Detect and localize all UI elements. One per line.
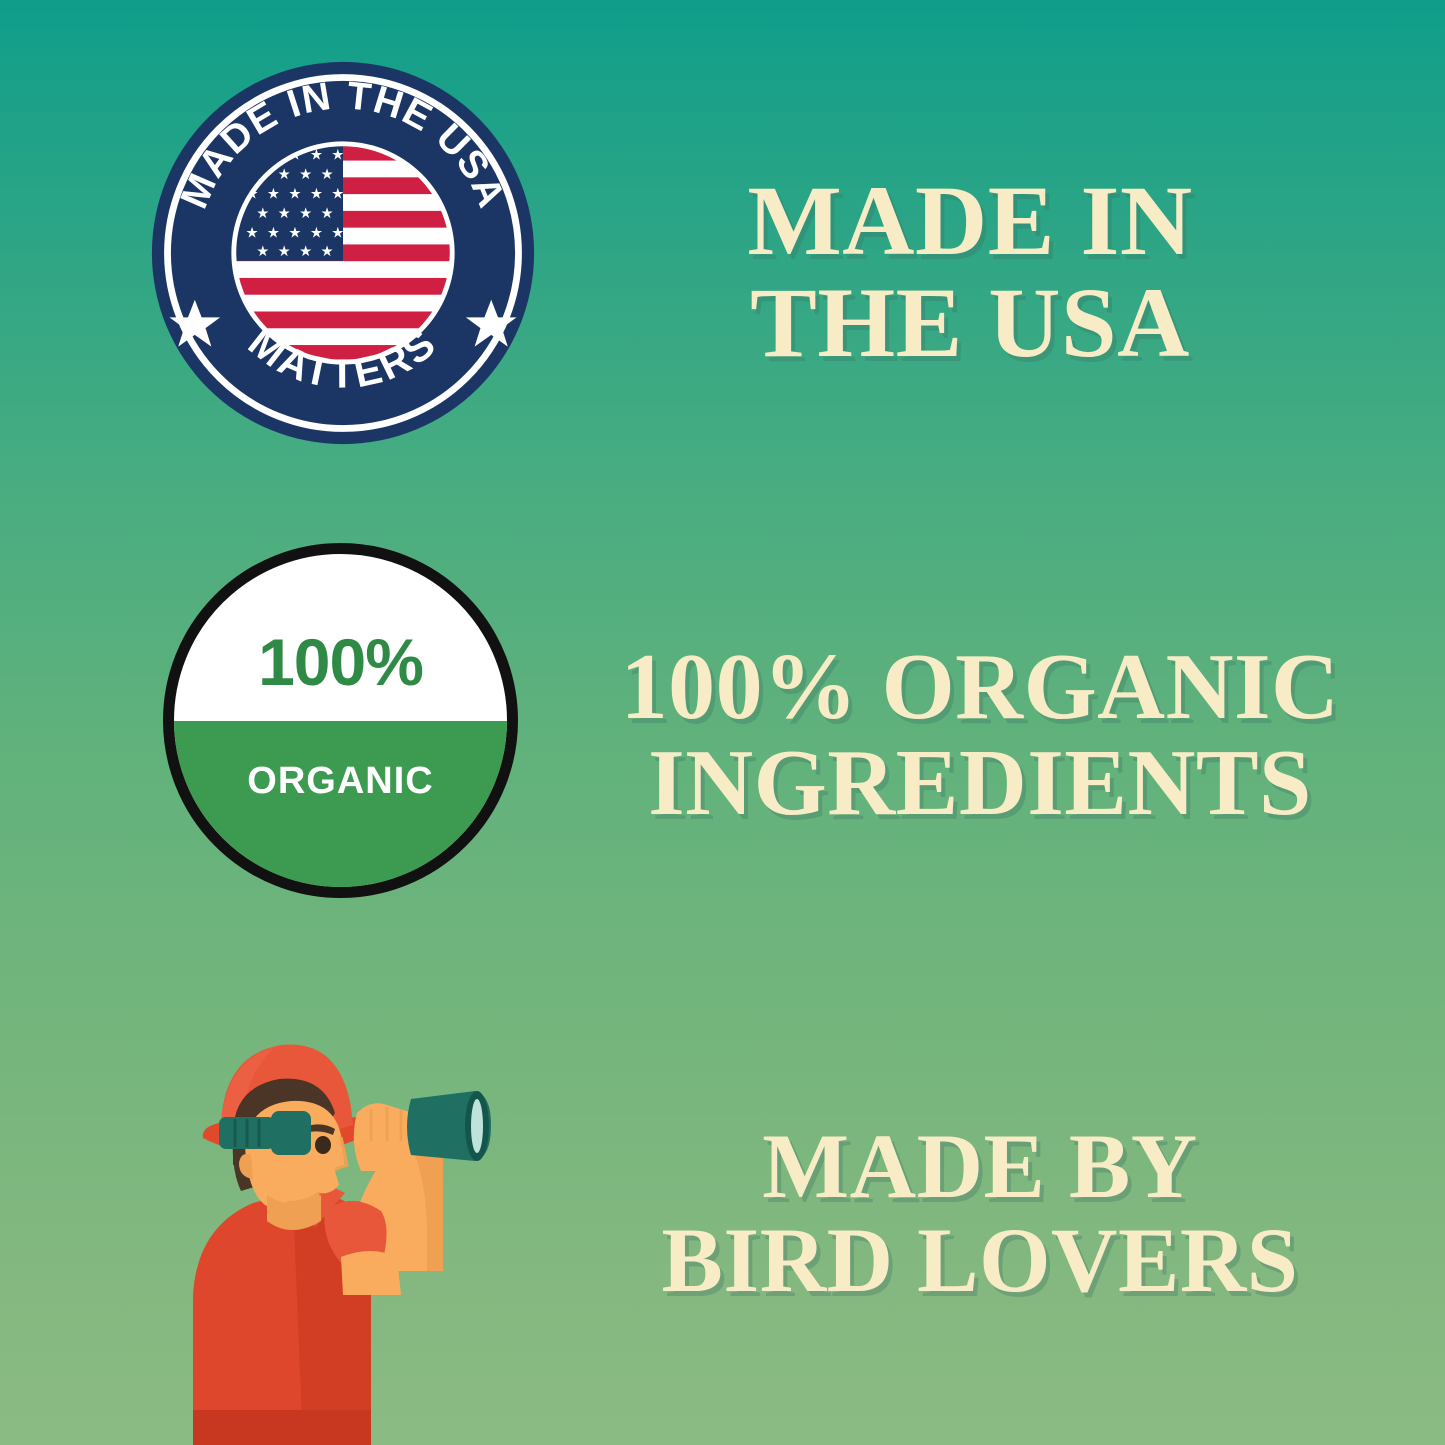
svg-text:★: ★ (256, 205, 269, 222)
feature-label-made-in-usa: MADE IN THE USA (590, 170, 1350, 374)
hand (354, 1103, 413, 1171)
svg-text:★: ★ (288, 224, 301, 241)
svg-text:★: ★ (310, 185, 323, 202)
svg-text:★: ★ (299, 166, 312, 183)
svg-text:★: ★ (246, 224, 259, 241)
organic-badge-icon: 100% ORGANIC (163, 543, 518, 898)
feature-line: THE USA (590, 272, 1350, 374)
feature-line: MADE IN (590, 170, 1350, 272)
organic-green-half (174, 721, 507, 888)
svg-text:★: ★ (267, 224, 280, 241)
organic-word-label: ORGANIC (174, 760, 507, 803)
birdwatcher-illustration (175, 995, 515, 1445)
product-feature-poster: ★★★★★ ★★★★ ★★★★★ ★★★★ ★★★★★ ★★★★ MADE IN… (0, 0, 1445, 1445)
organic-percent-label: 100% (174, 624, 507, 700)
made-in-usa-badge-svg: ★★★★★ ★★★★ ★★★★★ ★★★★ ★★★★★ ★★★★ MADE IN… (148, 58, 538, 448)
birdwatcher-svg (175, 995, 515, 1445)
made-in-usa-badge-icon: ★★★★★ ★★★★ ★★★★★ ★★★★ ★★★★★ ★★★★ MADE IN… (148, 58, 538, 448)
svg-text:★: ★ (310, 224, 323, 241)
feature-label-bird-lovers: MADE BY BIRD LOVERS (600, 1120, 1360, 1308)
svg-text:★: ★ (267, 185, 280, 202)
svg-text:★: ★ (256, 243, 269, 260)
svg-text:★: ★ (331, 224, 344, 241)
svg-text:★: ★ (299, 205, 312, 222)
svg-text:★: ★ (321, 166, 334, 183)
svg-text:★: ★ (331, 185, 344, 202)
svg-text:★: ★ (321, 205, 334, 222)
feature-line: INGREDIENTS (600, 736, 1360, 832)
svg-text:★: ★ (288, 185, 301, 202)
svg-text:★: ★ (278, 166, 291, 183)
feature-line: BIRD LOVERS (600, 1214, 1360, 1308)
organic-circle: 100% ORGANIC (163, 543, 518, 898)
svg-text:★: ★ (299, 243, 312, 260)
feature-line: MADE BY (600, 1120, 1360, 1214)
eye (315, 1136, 331, 1154)
feature-label-organic-ingredients: 100% ORGANIC INGREDIENTS (600, 640, 1360, 832)
svg-text:★: ★ (278, 205, 291, 222)
shirt-waistband (193, 1410, 371, 1445)
upper-forearm (341, 1251, 401, 1295)
svg-text:★: ★ (331, 146, 344, 163)
feature-line: 100% ORGANIC (600, 640, 1360, 736)
svg-text:★: ★ (278, 243, 291, 260)
svg-text:★: ★ (321, 243, 334, 260)
